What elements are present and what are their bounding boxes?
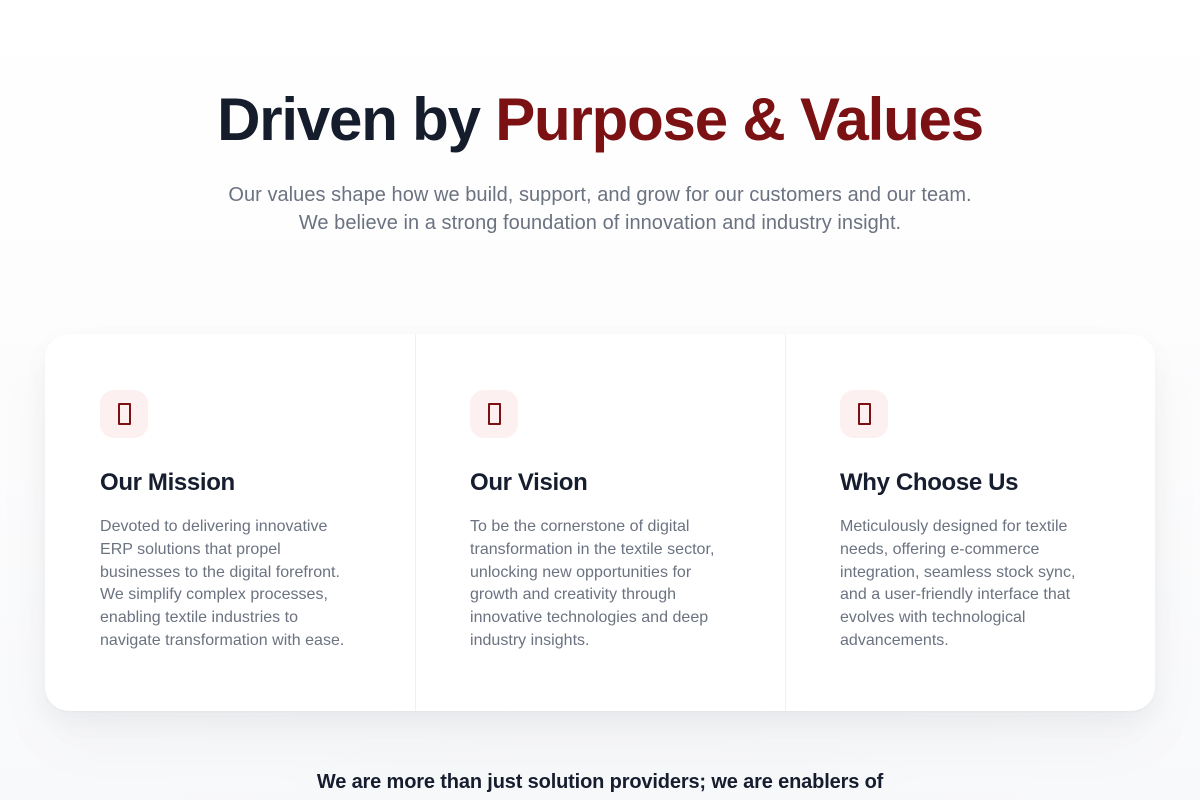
value-card-title: Our Vision	[470, 468, 730, 498]
values-panel-wrapper: Our Mission Devoted to delivering innova…	[45, 334, 1155, 711]
value-card-mission[interactable]: Our Mission Devoted to delivering innova…	[45, 334, 415, 711]
tofu-glyph	[118, 403, 131, 425]
missing-glyph-box-icon	[100, 390, 148, 438]
tofu-glyph	[858, 403, 871, 425]
page-title-lead: Driven by	[217, 86, 495, 153]
page-title: Driven by Purpose & Values	[0, 88, 1200, 152]
tofu-glyph	[488, 403, 501, 425]
value-card-body: Devoted to delivering innovative ERP sol…	[100, 516, 360, 653]
value-card-title: Our Mission	[100, 468, 360, 498]
values-section: Driven by Purpose & Values Our values sh…	[0, 0, 1200, 800]
value-card-body: To be the cornerstone of digital transfo…	[470, 516, 730, 653]
value-card-body: Meticulously designed for textile needs,…	[840, 516, 1100, 653]
hero-header: Driven by Purpose & Values Our values sh…	[0, 0, 1200, 237]
page-title-accent: Purpose & Values	[495, 86, 983, 153]
value-card-vision[interactable]: Our Vision To be the cornerstone of digi…	[415, 334, 785, 711]
value-card-title: Why Choose Us	[840, 468, 1100, 498]
value-card-why-choose-us[interactable]: Why Choose Us Meticulously designed for …	[785, 334, 1155, 711]
missing-glyph-box-icon	[470, 390, 518, 438]
closing-statement: We are more than just solution providers…	[0, 768, 1200, 796]
page-subtitle: Our values shape how we build, support, …	[224, 181, 976, 237]
missing-glyph-box-icon	[840, 390, 888, 438]
values-card-panel: Our Mission Devoted to delivering innova…	[45, 334, 1155, 711]
